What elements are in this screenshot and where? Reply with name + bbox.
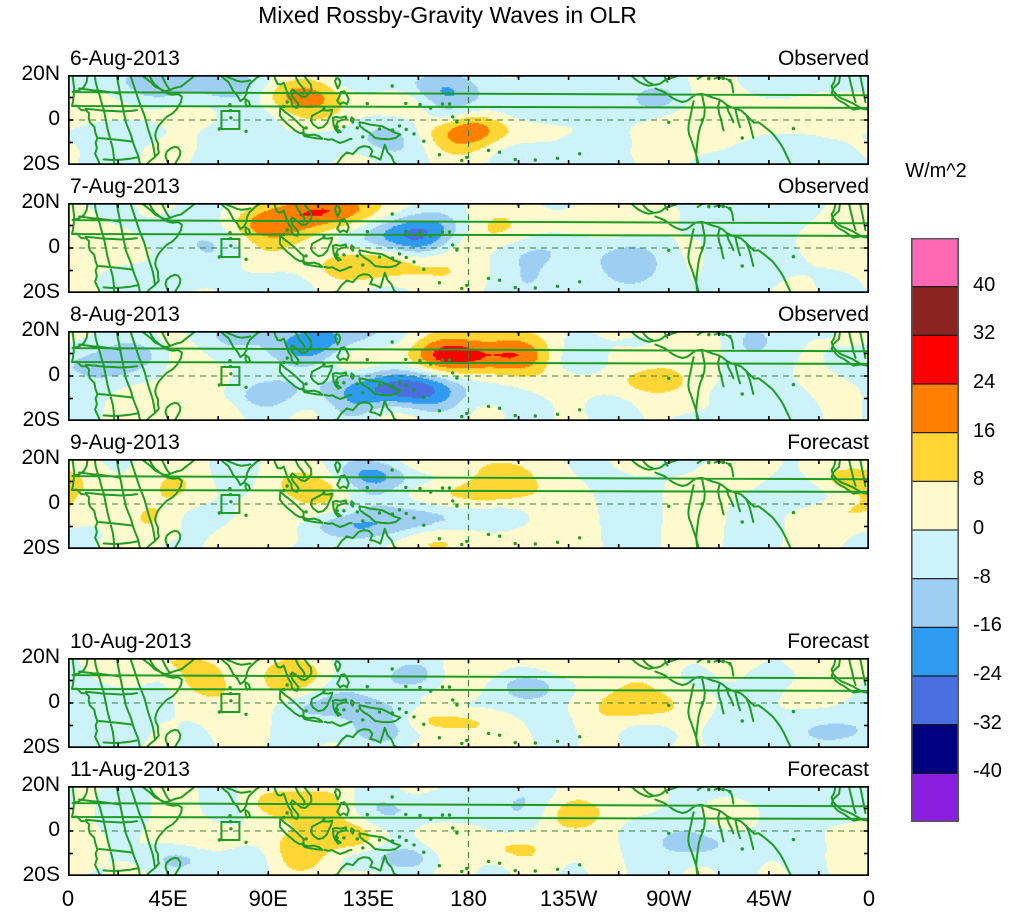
- colorbar-tick-label: 40: [973, 274, 995, 297]
- colorbar-tick-label: 16: [973, 420, 995, 443]
- colorbar-tick-label: 0: [973, 517, 984, 540]
- colorbar-tick-label: -24: [973, 663, 1002, 686]
- colorbar-unit-label: W/m^2: [881, 160, 991, 183]
- colorbar: W/m^24032241680-8-16-24-32-40: [0, 0, 1021, 922]
- colorbar-tick-label: 8: [973, 468, 984, 491]
- colorbar-tick-label: -16: [973, 614, 1002, 637]
- colorbar-tick-label: 24: [973, 371, 995, 394]
- colorbar-tick-label: -8: [973, 566, 991, 589]
- colorbar-tick-label: -32: [973, 712, 1002, 735]
- colorbar-tick-label: 32: [973, 322, 995, 345]
- colorbar-swatches: [911, 238, 959, 822]
- colorbar-tick-label: -40: [973, 760, 1002, 783]
